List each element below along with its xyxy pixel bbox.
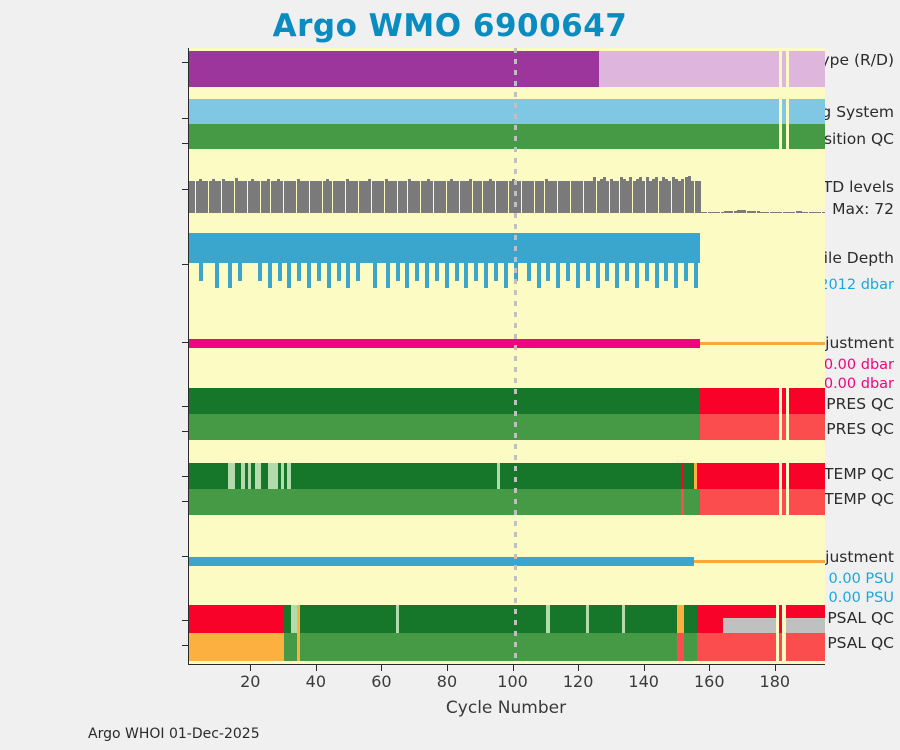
qc-segment (189, 605, 284, 633)
band-mode-of-temp-qc[interactable] (189, 489, 825, 515)
qc-segment (684, 489, 700, 515)
profile-depth-spike (425, 233, 429, 288)
profile-depth-spike (268, 233, 272, 288)
profile-depth-spike (556, 233, 560, 288)
qc-segment (291, 463, 498, 489)
qc-segment (228, 463, 235, 489)
x-axis-tick (513, 664, 514, 671)
adjustment-thick-line (189, 557, 694, 566)
profile-depth-spike (356, 233, 360, 281)
chart-panel (188, 48, 825, 665)
qc-segment (789, 463, 825, 489)
qc-segment (284, 633, 297, 661)
cycle-cursor-line (514, 48, 517, 664)
qc-segment (684, 463, 694, 489)
band-positioning-system[interactable] (189, 99, 825, 124)
profile-depth-spike (327, 233, 331, 288)
band-position-qc[interactable] (189, 124, 825, 149)
profile-depth-spike (445, 233, 449, 288)
band-pres-adjustment[interactable] (189, 333, 825, 355)
profile-depth-spike (287, 233, 291, 288)
qc-segment (782, 99, 785, 124)
profile-depth-spike (615, 233, 619, 288)
profile-depth-spike (278, 233, 282, 281)
qc-segment (399, 605, 547, 633)
qc-segment (684, 605, 697, 633)
band-profile-psal-qc[interactable] (189, 605, 825, 633)
profile-depth-spike (238, 233, 242, 281)
qc-segment (789, 51, 825, 87)
qc-segment (779, 605, 782, 633)
qc-segment (789, 388, 825, 414)
x-axis-tick-label: 180 (760, 672, 791, 691)
qc-segment (782, 388, 785, 414)
x-axis-tick-label: 20 (240, 672, 260, 691)
ctd-level-bar (698, 181, 701, 213)
profile-depth-spike (655, 233, 659, 288)
qc-segment (700, 489, 779, 515)
profile-depth-spike (546, 233, 550, 281)
qc-segment (189, 51, 599, 87)
x-axis-tick (381, 664, 382, 671)
page-title: Argo WMO 6900647 (0, 8, 900, 44)
qc-segment (189, 633, 284, 661)
x-axis-title: Cycle Number (188, 698, 824, 718)
qc-segment (789, 99, 825, 124)
qc-segment (189, 463, 228, 489)
profile-depth-spike (199, 233, 203, 281)
band-profile-pres-qc[interactable] (189, 388, 825, 414)
qc-segment (782, 489, 785, 515)
x-axis-tick (644, 664, 645, 671)
qc-segment (261, 463, 268, 489)
x-axis-tick-label: 100 (497, 672, 528, 691)
qc-segment (684, 633, 697, 661)
qc-segment (268, 463, 278, 489)
qc-segment (779, 633, 782, 661)
band-mode-of-pres-qc[interactable] (189, 414, 825, 440)
profile-depth-spike (455, 233, 459, 281)
adjustment-thin-line (694, 560, 825, 563)
profile-depth-spike (484, 233, 488, 288)
qc-segment (697, 633, 776, 661)
x-axis-tick (775, 664, 776, 671)
qc-segment (189, 388, 700, 414)
x-axis-tick-label: 120 (563, 672, 594, 691)
qc-segment (599, 51, 779, 87)
qc-segment (589, 605, 622, 633)
qc-gray-overlay (723, 618, 775, 633)
ctd-level-bar (822, 212, 825, 213)
qc-segment (500, 463, 680, 489)
profile-depth-spike (215, 233, 219, 288)
profile-depth-spike (566, 233, 570, 281)
qc-segment (782, 124, 785, 149)
qc-segment (235, 463, 242, 489)
profile-depth-spike (346, 233, 350, 288)
adjustment-thick-line (189, 339, 700, 348)
qc-segment (189, 489, 681, 515)
profile-depth-spike (605, 233, 609, 281)
profile-depth-spike (474, 233, 478, 281)
qc-segment (625, 605, 677, 633)
profile-depth-spike (635, 233, 639, 288)
x-axis-tick (250, 664, 251, 671)
profile-depth-spike (464, 233, 468, 288)
band-number-ctd-levels[interactable] (189, 173, 825, 213)
qc-segment (189, 124, 779, 149)
profile-depth-spike (684, 233, 688, 281)
profile-depth-spike (435, 233, 439, 281)
qc-segment (550, 605, 586, 633)
qc-segment (284, 605, 291, 633)
x-axis-tick-label: 140 (628, 672, 659, 691)
band-mode-of-psal-qc[interactable] (189, 633, 825, 661)
qc-segment (789, 489, 825, 515)
profile-depth-spike (228, 233, 232, 288)
qc-segment (782, 51, 785, 87)
profile-depth-spike (664, 233, 668, 281)
profile-depth-spike (694, 233, 698, 288)
qc-segment (700, 388, 779, 414)
profile-depth-spike (527, 233, 531, 281)
qc-segment (700, 463, 779, 489)
qc-segment (189, 99, 779, 124)
profile-depth-spike (504, 233, 508, 288)
qc-segment (300, 605, 395, 633)
adjustment-thin-line (700, 342, 825, 345)
profile-depth-spike (405, 233, 409, 288)
profile-depth-spike (494, 233, 498, 281)
band-date-type[interactable] (189, 51, 825, 87)
profile-depth-spike (373, 233, 377, 288)
qc-segment (782, 414, 785, 440)
profile-depth-spike (674, 233, 678, 288)
profile-depth-spike (645, 233, 649, 281)
profile-depth-spike (307, 233, 311, 288)
qc-gray-overlay (786, 618, 825, 633)
profile-depth-spike (596, 233, 600, 288)
profile-depth-spike (415, 233, 419, 281)
profile-depth-spike (297, 233, 301, 281)
qc-segment (300, 633, 677, 661)
profile-depth-spike (625, 233, 629, 281)
x-axis-tick (709, 664, 710, 671)
x-axis-tick (578, 664, 579, 671)
profile-depth-spike (317, 233, 321, 281)
profile-depth-spike (386, 233, 390, 288)
qc-segment (789, 124, 825, 149)
x-axis-tick-label: 40 (306, 672, 326, 691)
profile-depth-spike (576, 233, 580, 288)
profile-depth-spike (337, 233, 341, 281)
qc-segment (789, 414, 825, 440)
qc-segment (189, 414, 700, 440)
x-axis-tick (447, 664, 448, 671)
x-axis-tick (316, 664, 317, 671)
x-axis-tick-label: 160 (694, 672, 725, 691)
profile-depth-spike (396, 233, 400, 281)
band-profile-depth[interactable] (189, 233, 825, 298)
footer-credit: Argo WHOI 01-Dec-2025 (88, 726, 260, 742)
x-axis-tick-label: 80 (437, 672, 457, 691)
band-profile-temp-qc[interactable] (189, 463, 825, 489)
band-psal-adjustment[interactable] (189, 551, 825, 573)
qc-segment (782, 463, 785, 489)
profile-depth-spike (586, 233, 590, 281)
x-axis-tick-label: 60 (371, 672, 391, 691)
profile-depth-spike (537, 233, 541, 288)
qc-segment (786, 633, 825, 661)
qc-segment (700, 414, 779, 440)
profile-depth-spike (258, 233, 262, 281)
